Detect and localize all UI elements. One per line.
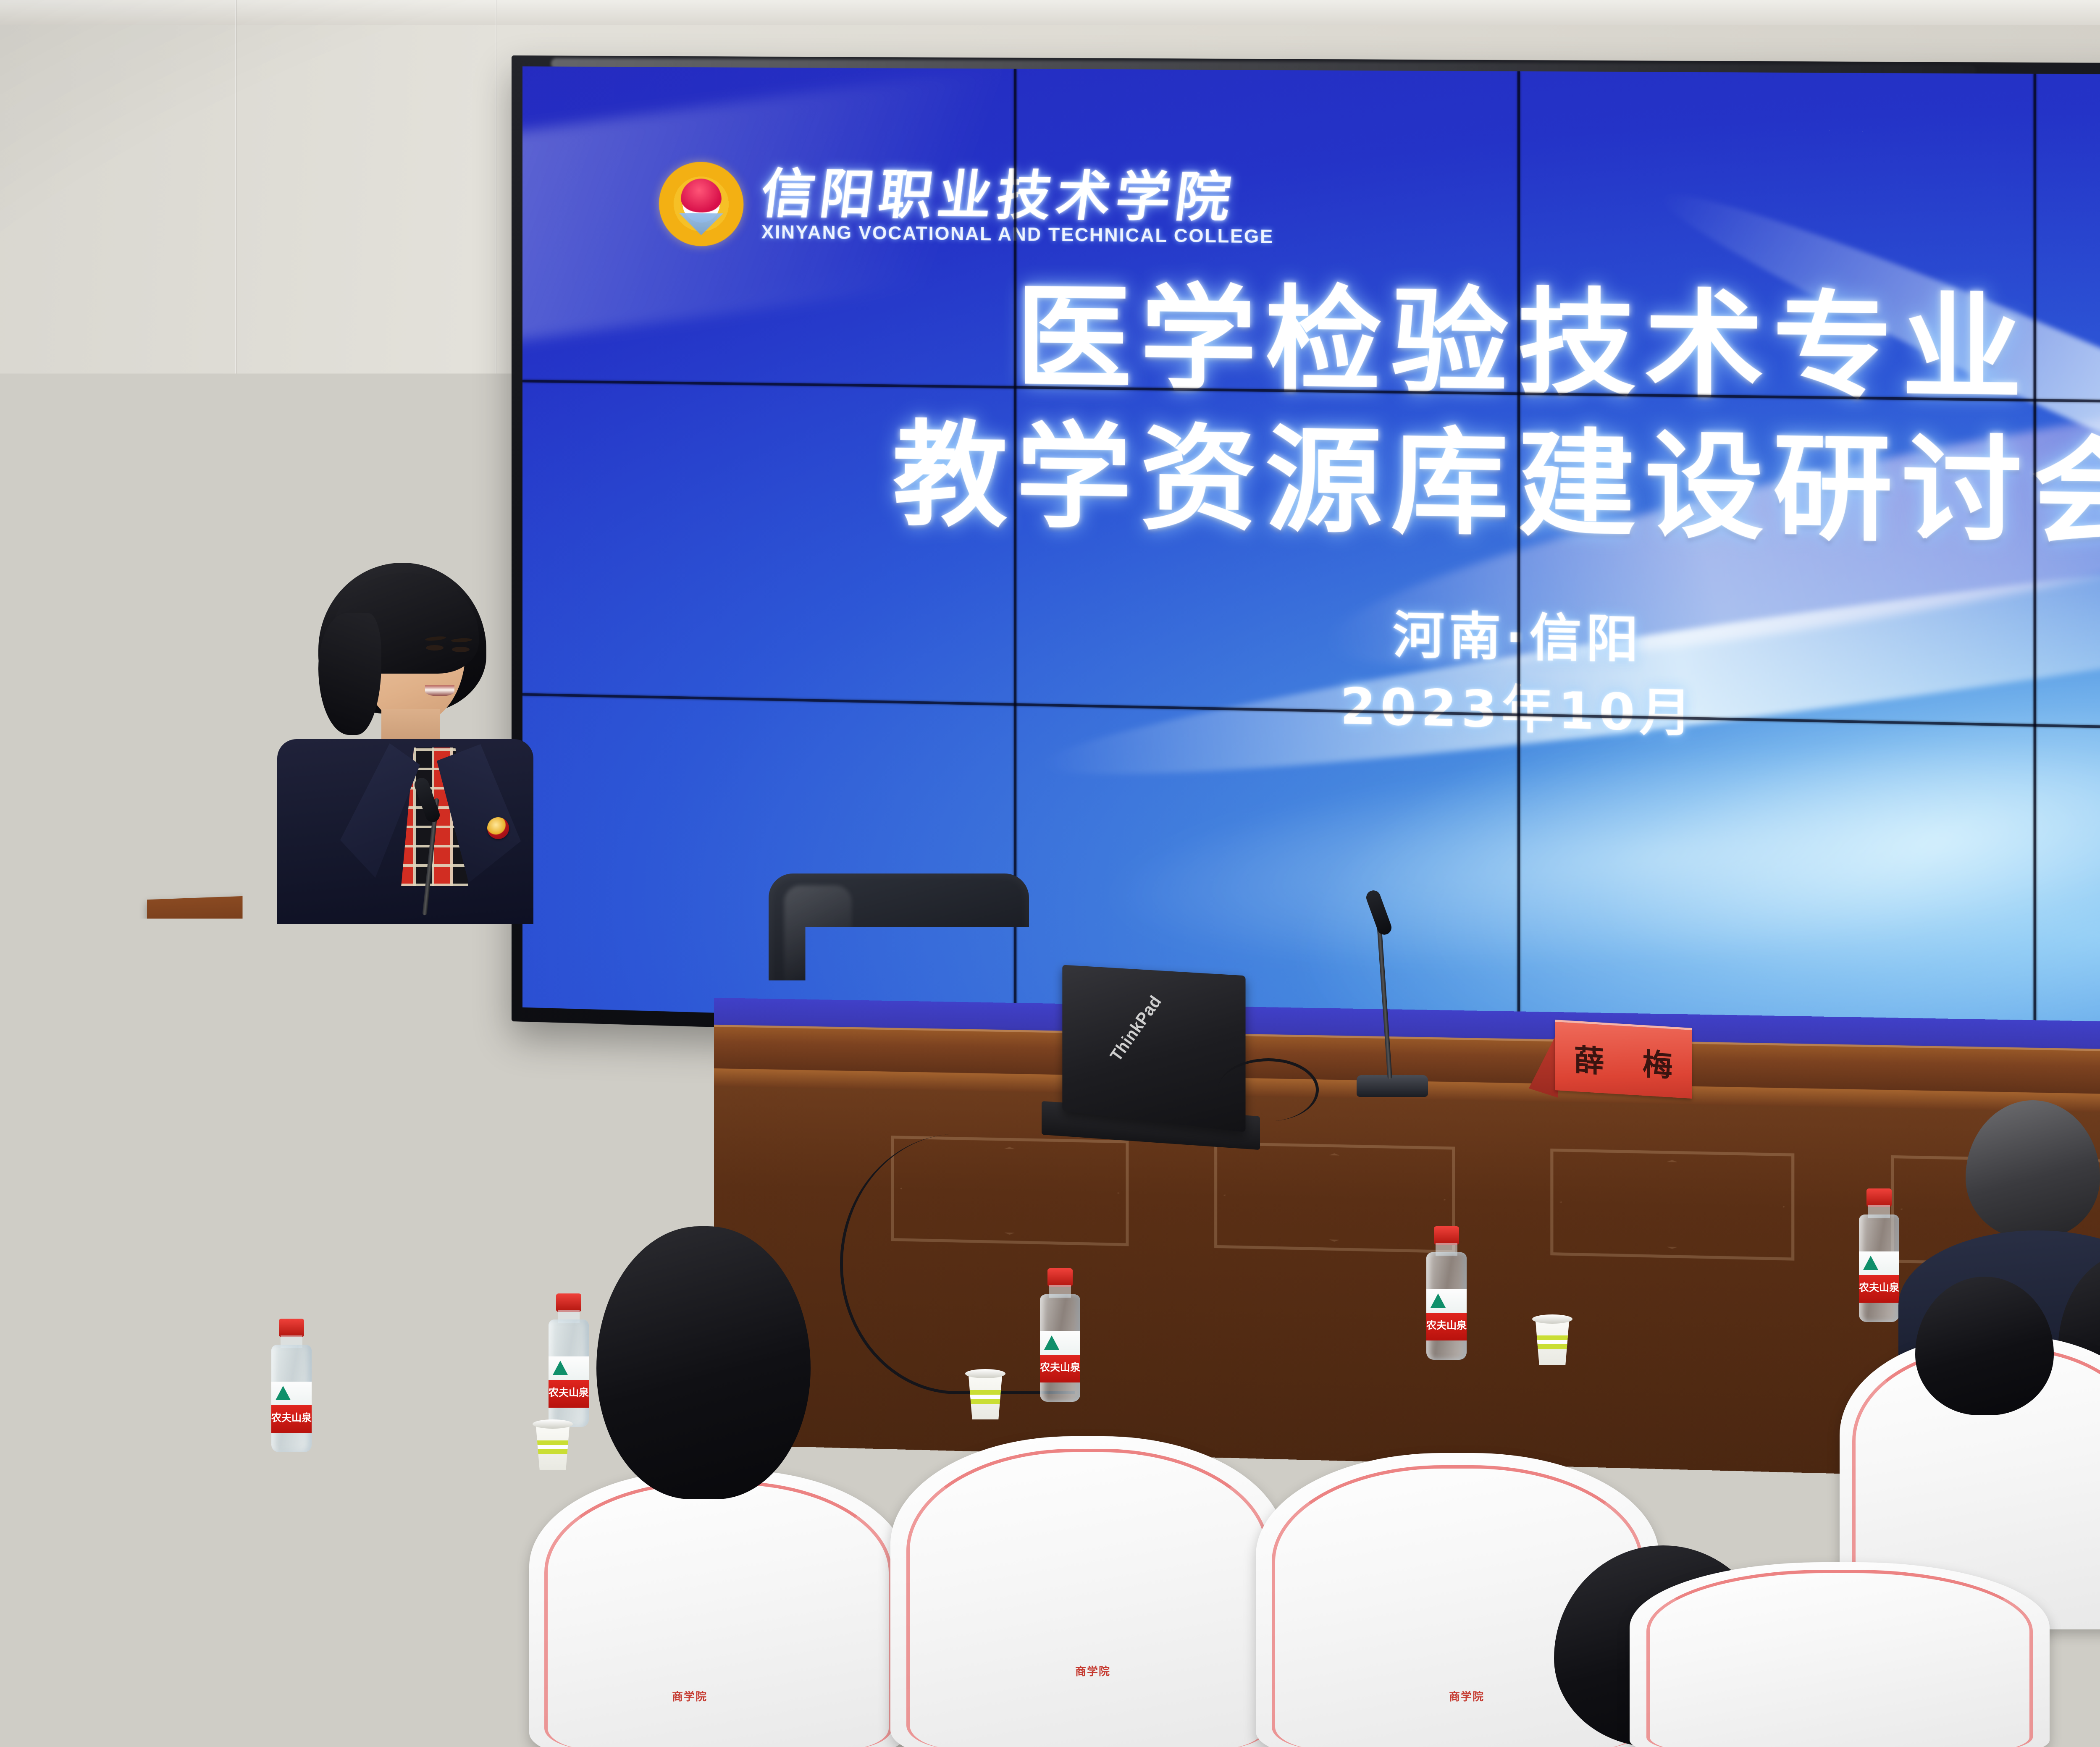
laptop[interactable]: ThinkPad <box>1042 970 1264 1151</box>
seat-cover-logo: 商学院 <box>1449 1688 1484 1704</box>
wall-top-band <box>0 0 2100 25</box>
table-microphone[interactable] <box>1331 865 1457 1100</box>
seat-cover-logo: 商学院 <box>1075 1663 1110 1679</box>
bottle-brand-text: 农夫山泉 <box>549 1384 589 1399</box>
certification-sticker-icon <box>393 957 414 979</box>
paper-cup[interactable] <box>1533 1319 1572 1365</box>
slide-logo-row: 信阳职业技术学院 XINYANG VOCATIONAL AND TECHNICA… <box>659 162 1274 252</box>
seat-cover-logo: 商学院 <box>25 1713 60 1729</box>
bottle-logo-icon <box>1863 1256 1878 1270</box>
audience-head <box>596 1226 811 1499</box>
water-bottle[interactable]: 农夫山泉 <box>1424 1226 1469 1360</box>
water-bottle[interactable]: 农夫山泉 <box>269 1319 314 1452</box>
video-wall[interactable]: 信阳职业技术学院 XINYANG VOCATIONAL AND TECHNICA… <box>512 55 2100 1080</box>
panel-seam-vertical <box>1517 71 1520 1036</box>
bottle-brand-text: 农夫山泉 <box>1859 1279 1899 1294</box>
paper-cup[interactable] <box>903 1067 942 1113</box>
seat-cover: 商学院 <box>529 1470 907 1747</box>
seat-cover-logo-text: 商学院 <box>1075 1663 1110 1679</box>
green-certification-sticker-icon <box>365 958 386 980</box>
panel-diamond-motif <box>1214 1142 1455 1253</box>
speaker-hair-side <box>318 613 381 735</box>
water-bottle[interactable]: 农夫山泉 <box>1856 1188 1902 1322</box>
laptop-brand-logo: ThinkPad <box>1107 992 1165 1065</box>
seat-cover-logo: 商学院 <box>672 1688 707 1704</box>
certification-sticker-icon <box>337 959 358 981</box>
seat-cover <box>1630 1562 2050 1747</box>
name-card-char-right: 梅 <box>1642 1039 1672 1085</box>
panel-diamond-motif <box>1550 1149 1794 1261</box>
cable <box>1218 1058 1319 1121</box>
laptop-lid: ThinkPad <box>1062 965 1245 1132</box>
panel-seam-vertical <box>2034 74 2036 1050</box>
bottle-brand-text: 农夫山泉 <box>271 1409 312 1424</box>
bottle-brand-text: 农夫山泉 <box>1426 1317 1467 1332</box>
certification-sticker-icon <box>282 961 303 983</box>
lectern-front-panel <box>171 916 617 1167</box>
bottle-cap <box>556 1293 581 1312</box>
paper-cup[interactable] <box>63 1453 102 1499</box>
seat-cover-logo-text: 商学院 <box>1449 1688 1484 1704</box>
seat-cover-logo: 商学院 <box>437 1718 472 1733</box>
bottle-logo-icon <box>553 1361 568 1375</box>
speaker-eye <box>452 647 470 652</box>
bottle-cap <box>1866 1188 1892 1207</box>
bottle-cap <box>1434 1226 1459 1245</box>
name-card-xue-mei: 薛 梅 <box>1529 1021 1693 1098</box>
name-card-text: 会 <box>403 1394 529 1501</box>
name-card-char-left: 薛 <box>1574 1035 1604 1081</box>
paper-cup-rim <box>62 1449 102 1458</box>
chair-armrest <box>752 1033 1042 1060</box>
microphone-capsule-icon <box>1364 889 1394 937</box>
paper-cup-rim <box>1532 1314 1572 1324</box>
bottle-logo-icon <box>276 1386 291 1400</box>
speaker-lapel-pin-icon <box>487 817 509 839</box>
slide-subtitle: 河南·信阳 2023年10月 <box>522 584 2100 768</box>
name-card-face: 会 <box>403 1392 529 1501</box>
paper-cup-rim <box>902 1062 942 1072</box>
college-name-cn: 信阳职业技术学院 <box>758 167 1277 225</box>
bottle-logo-icon <box>1431 1293 1446 1308</box>
lectern-base <box>218 1340 546 1362</box>
bottle-cap <box>279 1319 304 1337</box>
slide-title: 医学检验技术专业 教学资源库建设研讨会 <box>522 264 2100 573</box>
name-card-text: 薛 梅 <box>1555 1022 1692 1099</box>
slide-title-line-2: 教学资源库建设研讨会 <box>522 401 2100 573</box>
chair-seat <box>785 1058 1012 1109</box>
microphone-gooseneck <box>1376 911 1392 1079</box>
microphone-base <box>1357 1075 1428 1097</box>
seat-cover-logo-text: 商学院 <box>437 1718 472 1733</box>
seat-cover-logo-text: 商学院 <box>672 1688 707 1704</box>
lectern-brand-label: 富美达集团 <box>210 964 275 983</box>
lectern-column-shadow <box>260 1159 344 1344</box>
paper-cup[interactable] <box>533 1424 572 1470</box>
speaker-mouth <box>425 685 454 696</box>
seat-cover-logo-text: 商学院 <box>25 1713 60 1729</box>
name-card-secondary: 会 <box>403 1394 538 1503</box>
speaker-eye <box>426 645 444 651</box>
name-card-side <box>1529 1031 1558 1098</box>
slide-title-line-1: 医学检验技术专业 <box>522 264 2100 428</box>
lectern-microphone[interactable] <box>378 773 479 915</box>
slide-logo-text: 信阳职业技术学院 XINYANG VOCATIONAL AND TECHNICA… <box>761 167 1274 246</box>
paper-cup-rim <box>533 1419 573 1429</box>
water-bottle[interactable]: 农夫山泉 <box>546 1293 591 1427</box>
audience-head <box>974 1260 1193 1520</box>
college-crest-icon <box>659 162 744 247</box>
certification-sticker-icon <box>310 960 331 982</box>
conference-photo: 信阳职业技术学院 XINYANG VOCATIONAL AND TECHNICA… <box>0 0 2100 1747</box>
name-card-face: 薛 梅 <box>1555 1020 1692 1099</box>
